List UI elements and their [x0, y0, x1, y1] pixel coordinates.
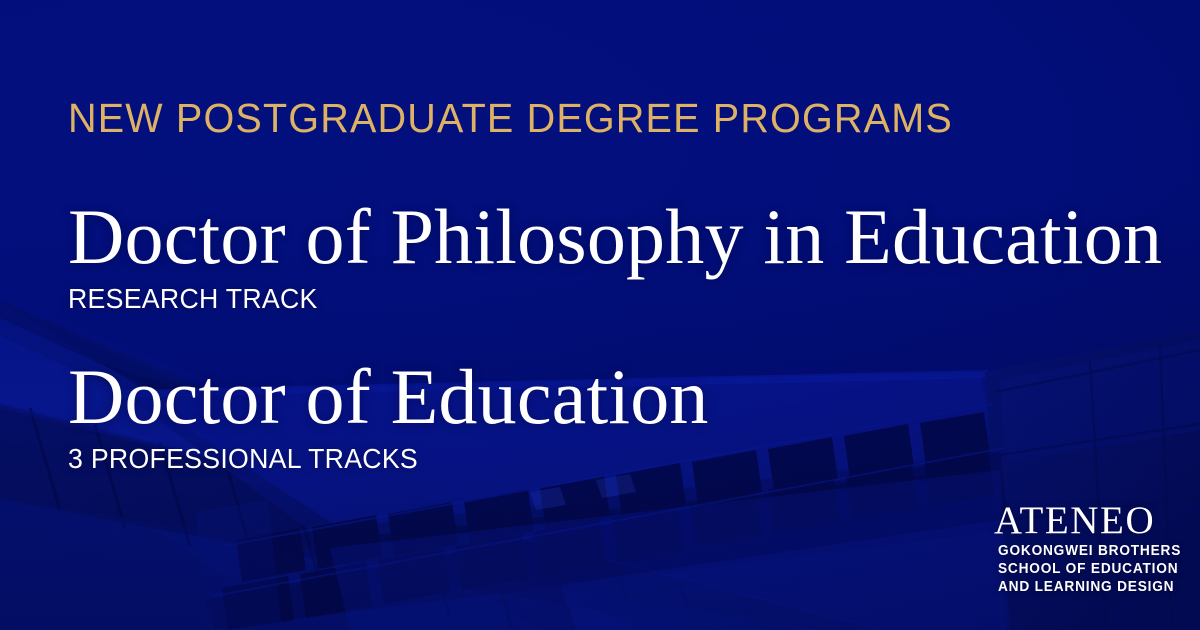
logo-line-2: SCHOOL OF EDUCATION	[998, 560, 1150, 578]
logo-line-3: AND LEARNING DESIGN	[998, 578, 1150, 596]
program-title: Doctor of Education	[68, 358, 709, 436]
logo-subtext: GOKONGWEI BROTHERS SCHOOL OF EDUCATION A…	[994, 542, 1154, 597]
logo-line-1: GOKONGWEI BROTHERS	[998, 542, 1150, 560]
program-subtitle: RESEARCH TRACK	[68, 285, 1129, 313]
eyebrow-heading: NEW POSTGRADUATE DEGREE PROGRAMS	[68, 98, 953, 139]
program-subtitle: 3 PROFESSIONAL TRACKS	[68, 445, 689, 473]
promotional-banner: NEW POSTGRADUATE DEGREE PROGRAMS Doctor …	[0, 0, 1200, 630]
banner-content: NEW POSTGRADUATE DEGREE PROGRAMS Doctor …	[0, 0, 1200, 630]
program-title: Doctor of Philosophy in Education	[68, 198, 1162, 276]
ateneo-logo-lockup: ATENEO GOKONGWEI BROTHERS SCHOOL OF EDUC…	[994, 504, 1154, 596]
program-block-edd: Doctor of Education 3 PROFESSIONAL TRACK…	[68, 358, 709, 473]
logo-wordmark: ATENEO	[994, 504, 1154, 538]
program-block-phd: Doctor of Philosophy in Education RESEAR…	[68, 198, 1162, 313]
